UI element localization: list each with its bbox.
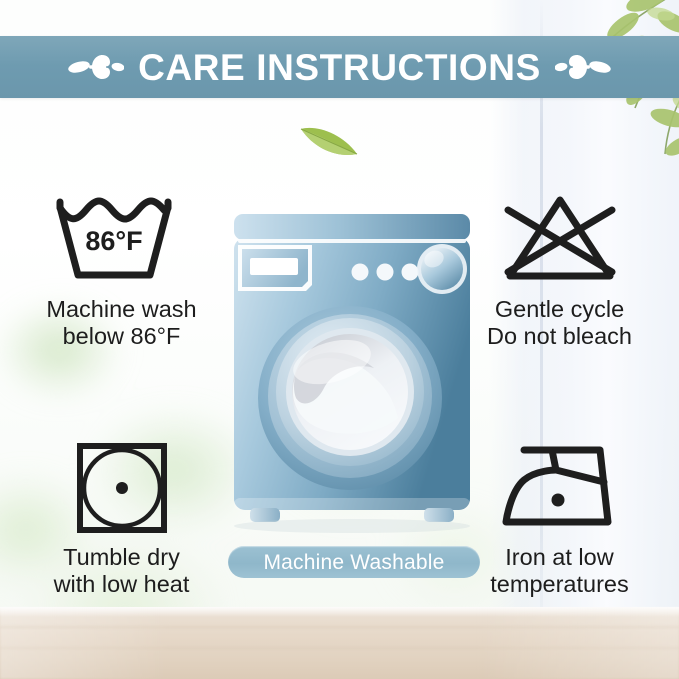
care-symbol-iron: Iron at low temperatures xyxy=(452,440,667,599)
care-symbol-machine-wash: 86°F Machine wash below 86°F xyxy=(14,192,229,351)
washer-control-button xyxy=(402,264,419,281)
washer-control-button xyxy=(352,264,369,281)
care-symbol-do-not-bleach: Gentle cycle Do not bleach xyxy=(452,192,667,351)
machine-washable-badge: Machine Washable xyxy=(228,546,480,578)
care-caption-do-not-bleach: Gentle cycle Do not bleach xyxy=(487,296,632,351)
washer-drawer-handle xyxy=(250,258,298,275)
wash-basin-icon: 86°F xyxy=(48,192,196,288)
washer-top-panel xyxy=(234,214,470,240)
background-table-grain xyxy=(0,607,679,679)
iron-icon-wrapper xyxy=(496,440,624,536)
tumble-dry-square-icon-wrapper xyxy=(72,440,172,536)
wash-temperature-label: 86°F xyxy=(85,226,142,256)
care-caption-iron: Iron at low temperatures xyxy=(490,544,628,599)
machine-washable-badge-label: Machine Washable xyxy=(263,552,444,573)
fleur-de-lis-right-icon xyxy=(555,47,611,87)
care-symbol-tumble-dry: Tumble dry with low heat xyxy=(14,440,229,599)
floating-leaf-icon xyxy=(297,120,363,162)
triangle-crossed-icon-wrapper xyxy=(494,192,626,288)
washing-machine-illustration xyxy=(228,212,476,534)
wash-basin-icon-wrapper: 86°F xyxy=(48,192,196,288)
fleur-de-lis-left-icon xyxy=(68,47,124,87)
washer-foot-right xyxy=(424,508,454,522)
care-caption-machine-wash: Machine wash below 86°F xyxy=(46,296,196,351)
washer-control-button xyxy=(377,264,394,281)
washer-ground-shadow xyxy=(234,519,470,533)
tumble-dry-square-icon xyxy=(72,440,172,536)
care-caption-tumble-dry: Tumble dry with low heat xyxy=(54,544,190,599)
banner: CARE INSTRUCTIONS xyxy=(0,36,679,98)
triangle-crossed-icon xyxy=(494,192,626,288)
iron-icon xyxy=(496,440,624,536)
care-instructions-infographic: CARE INSTRUCTIONS 86°F Machine wash belo… xyxy=(0,0,679,679)
banner-title: CARE INSTRUCTIONS xyxy=(138,49,541,86)
washer-foot-left xyxy=(250,508,280,522)
